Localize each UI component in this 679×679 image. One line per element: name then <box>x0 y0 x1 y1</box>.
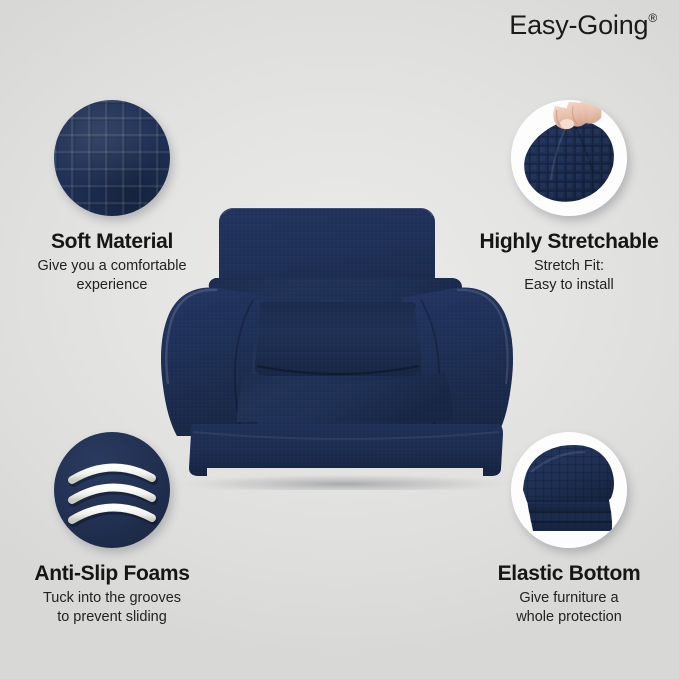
feature-subtitle: Give you a comfortable experience <box>2 257 222 295</box>
feature-subtitle-line: experience <box>2 276 222 295</box>
feature-subtitle: Give furniture a whole protection <box>459 589 679 627</box>
feature-title: Highly Stretchable <box>459 230 679 254</box>
registered-trademark-icon: ® <box>648 11 657 25</box>
brand-logo: Easy-Going® <box>509 10 657 41</box>
feature-title: Anti-Slip Foams <box>2 562 222 586</box>
feature-subtitle-line: Easy to install <box>459 276 679 295</box>
feature-soft-material: Soft Material Give you a comfortable exp… <box>2 100 222 295</box>
feature-elastic-bottom: Elastic Bottom Give furniture a whole pr… <box>459 432 679 627</box>
hand-stretching-fabric-icon <box>511 100 627 216</box>
feature-icon-wrap <box>54 100 170 216</box>
feature-icon-wrap <box>54 432 170 548</box>
fabric-swatch-icon <box>54 100 170 216</box>
feature-anti-slip-foams: Anti-Slip Foams Tuck into the grooves to… <box>2 432 222 627</box>
feature-subtitle-line: Give you a comfortable <box>2 257 222 276</box>
feature-subtitle-line: whole protection <box>459 608 679 627</box>
foam-strips-icon <box>54 432 170 548</box>
feature-subtitle-line: Stretch Fit: <box>459 257 679 276</box>
feature-title: Soft Material <box>2 230 222 254</box>
feature-subtitle-line: to prevent sliding <box>2 608 222 627</box>
brand-name: Easy-Going <box>509 10 648 40</box>
feature-subtitle: Tuck into the grooves to prevent sliding <box>2 589 222 627</box>
chair-seat <box>255 302 422 376</box>
feature-subtitle-line: Give furniture a <box>459 589 679 608</box>
chair-skirt <box>189 424 503 476</box>
feature-icon-wrap <box>511 100 627 216</box>
feature-subtitle: Stretch Fit: Easy to install <box>459 257 679 295</box>
feature-title: Elastic Bottom <box>459 562 679 586</box>
folded-fabric-stack-icon <box>511 432 627 548</box>
feature-highly-stretchable: Highly Stretchable Stretch Fit: Easy to … <box>459 100 679 295</box>
feature-subtitle-line: Tuck into the grooves <box>2 589 222 608</box>
product-infographic: Easy-Going® <box>0 0 679 679</box>
feature-icon-wrap <box>511 432 627 548</box>
